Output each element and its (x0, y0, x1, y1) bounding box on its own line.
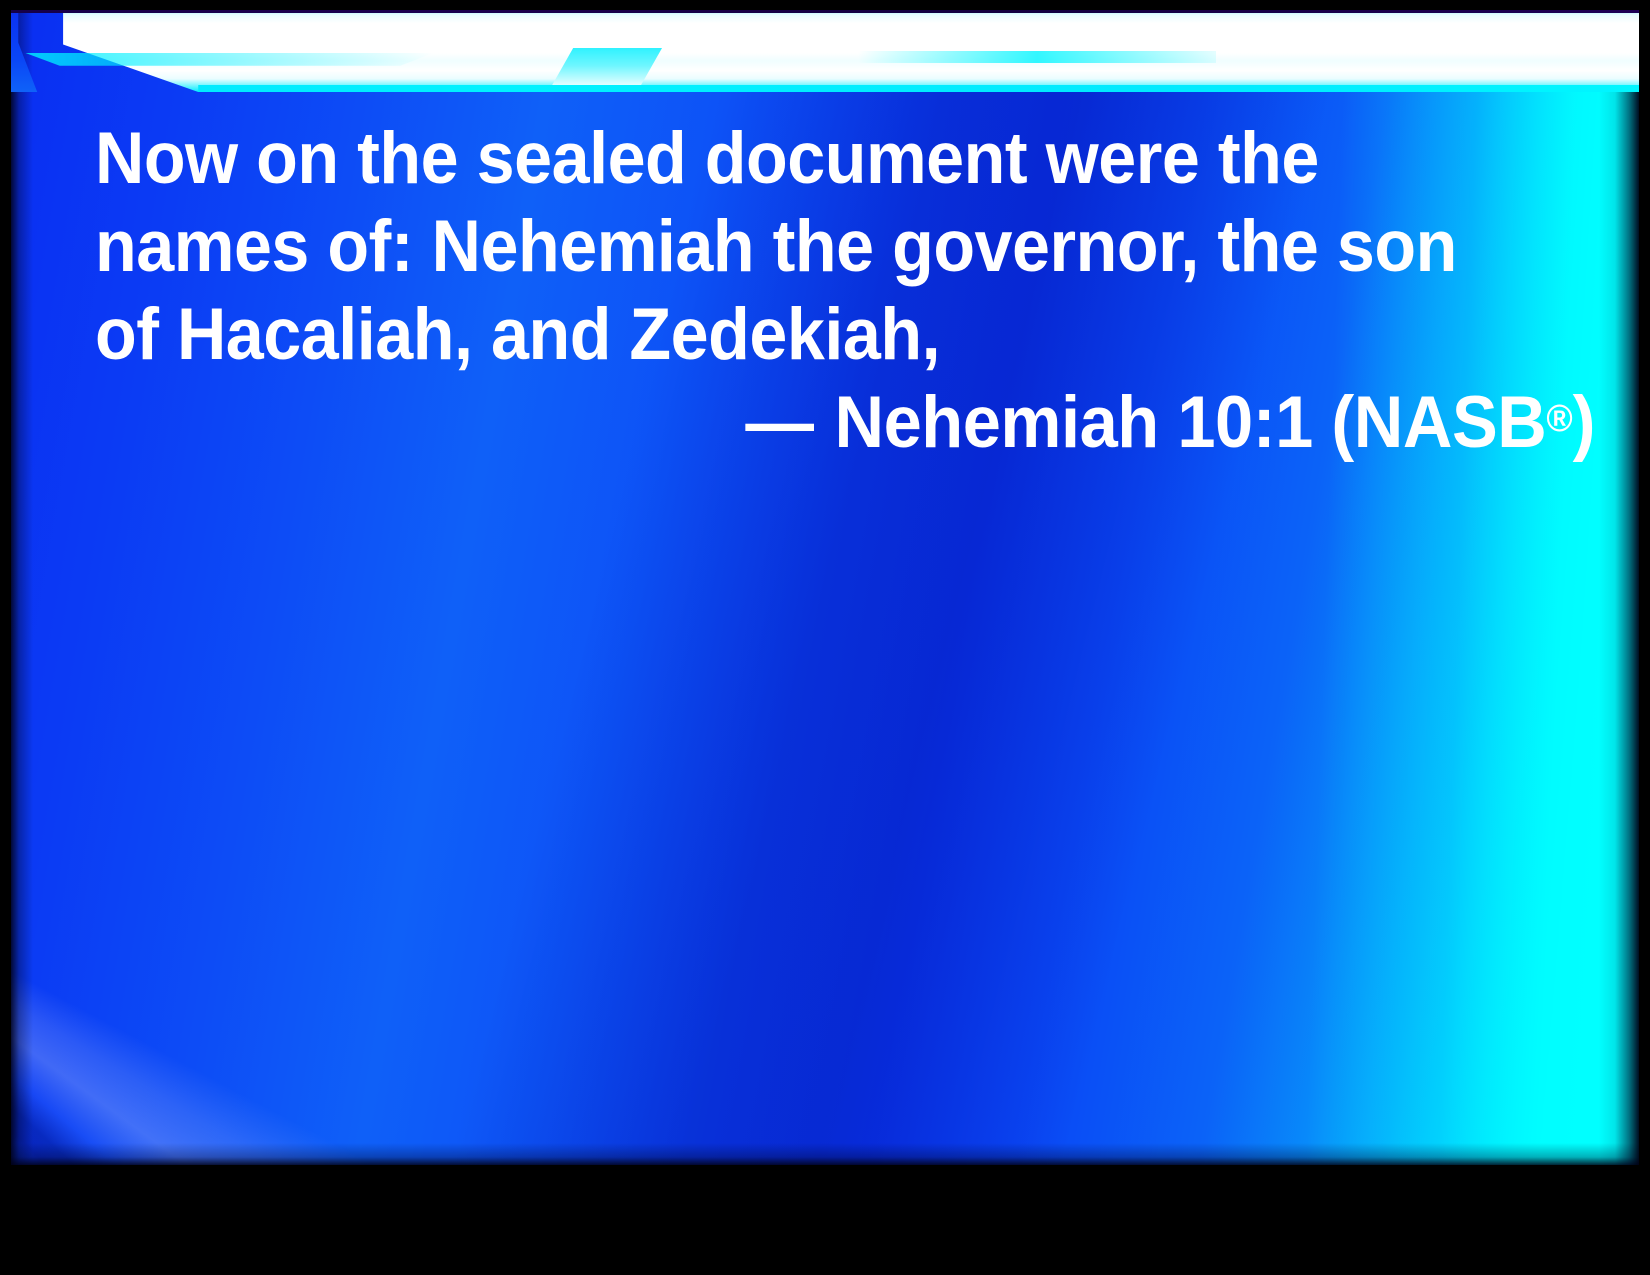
slide-artwork-panel: Now on the sealed document were the name… (11, 10, 1639, 1165)
banner-cyan-streak-left (11, 53, 434, 66)
citation-book: Nehemiah (835, 382, 1159, 463)
banner-white-fill (11, 10, 1639, 92)
citation-reference: 10:1 (1177, 382, 1312, 463)
verse-line-2: names of: Nehemiah the governor, the son (95, 210, 1498, 283)
banner-bottom-cyan-line (11, 85, 1639, 92)
citation-translation-close: ) (1573, 382, 1595, 463)
verse-line-1: Now on the sealed document were the (95, 122, 1498, 195)
scripture-slide: Now on the sealed document were the name… (0, 0, 1650, 1275)
citation-em-dash: — (745, 382, 816, 463)
top-banner (11, 10, 1639, 92)
banner-cyan-streak-right (858, 51, 1216, 63)
citation-translation-open: (NASB (1331, 382, 1546, 463)
banner-top-dark-edge (11, 10, 1639, 13)
registered-trademark-icon: ® (1546, 398, 1572, 440)
verse-line-3: of Hacaliah, and Zedekiah, (95, 298, 1498, 371)
verse-citation: — Nehemiah 10:1 (NASB®) (185, 386, 1595, 459)
